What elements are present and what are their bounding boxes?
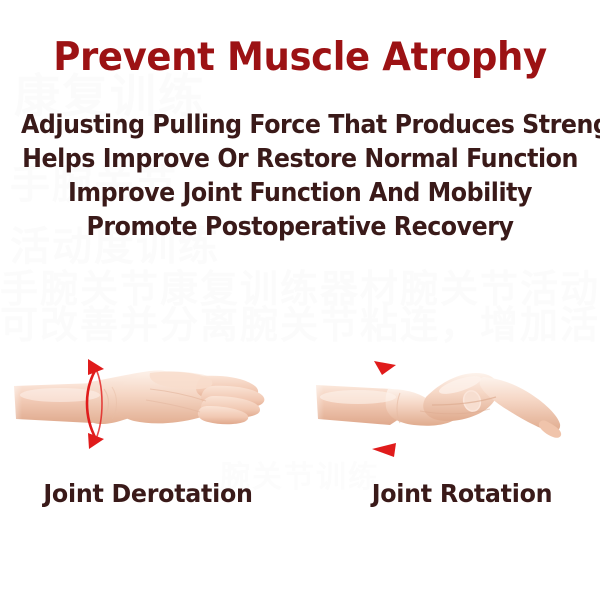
benefit-line: Promote Postoperative Recovery [21, 210, 579, 244]
caption-joint-derotation: Joint Derotation [6, 478, 291, 510]
forearm-highlight [320, 390, 396, 404]
arrowhead-bottom [372, 443, 396, 457]
hand-palm-down-illustration [300, 345, 600, 475]
edge-fade [0, 375, 22, 427]
caption-joint-rotation: Joint Rotation [320, 478, 600, 510]
page-title: Prevent Muscle Atrophy [15, 36, 585, 80]
caption-row: Joint Derotation Joint Rotation [0, 478, 600, 514]
benefit-line: Adjusting Pulling Force That Produces St… [21, 108, 579, 142]
benefit-list: Adjusting Pulling Force That Produces St… [0, 108, 600, 244]
illustration-row [0, 345, 600, 475]
arrowhead-down [88, 433, 104, 449]
benefit-line: Improve Joint Function And Mobility [21, 176, 579, 210]
figure-joint-derotation [0, 345, 300, 475]
arrowhead-top [374, 361, 396, 375]
watermark-line: 手腕关节康复训练器材腕关节活动度训练 [0, 258, 600, 313]
benefit-line: Helps Improve Or Restore Normal Function [21, 142, 579, 176]
edge-fade [300, 377, 324, 427]
hand-palm-up-illustration [0, 345, 300, 475]
figure-joint-rotation [300, 345, 600, 475]
arrowhead-up [88, 359, 104, 375]
watermark-line: 可改善并分离腕关节粘连，增加活动度 [0, 294, 600, 349]
poster-canvas: 康复训练 手腕关节 活动度训练 手腕关节康复训练器材腕关节活动度训练 可改善并分… [0, 0, 600, 600]
